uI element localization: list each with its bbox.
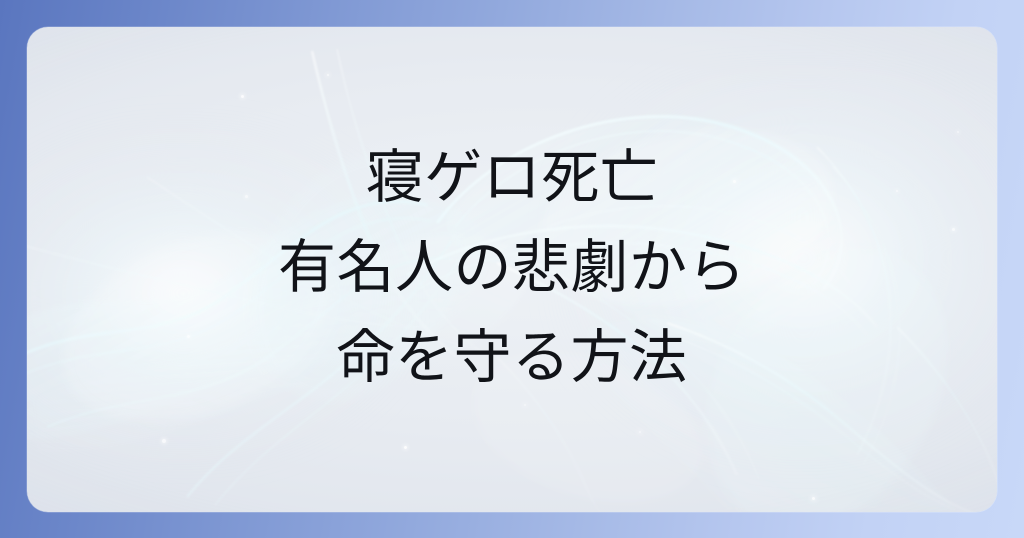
title-line-2: 有名人の悲劇から	[278, 222, 746, 312]
thumbnail-canvas: 寝ゲロ死亡 有名人の悲劇から 命を守る方法	[0, 0, 1024, 538]
title-line-3: 命を守る方法	[336, 312, 687, 402]
title-block: 寝ゲロ死亡 有名人の悲劇から 命を守る方法	[27, 27, 997, 512]
content-card: 寝ゲロ死亡 有名人の悲劇から 命を守る方法	[27, 27, 997, 512]
title-line-1: 寝ゲロ死亡	[366, 132, 659, 222]
